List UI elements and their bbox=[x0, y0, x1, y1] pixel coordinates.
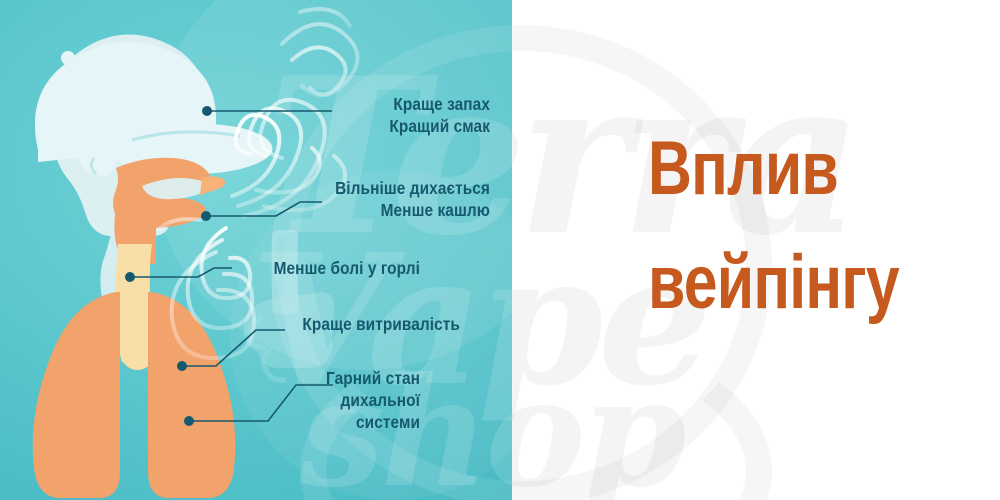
callout-breathing-line1: Вільніше дихається bbox=[219, 178, 490, 200]
connector-dot-endurance bbox=[177, 361, 187, 371]
watermark-ring-lower-right bbox=[512, 330, 772, 500]
callout-endurance-line1: Краще витривалість bbox=[222, 314, 460, 336]
connector-dot-throat bbox=[125, 272, 135, 282]
callout-respiratory-line2: дихальної bbox=[253, 390, 420, 412]
callout-smell-taste-line1: Краще запах bbox=[254, 94, 490, 116]
infographic-banner: Terra Vape shop bbox=[0, 0, 1000, 500]
callout-respiratory-line3: системи bbox=[253, 412, 420, 434]
hand-holding-vape-device bbox=[244, 230, 334, 380]
page-title-line1: Вплив bbox=[648, 132, 912, 206]
callout-endurance: Краще витривалість bbox=[190, 314, 460, 336]
illustration-panel: Terra Vape shop bbox=[0, 0, 512, 500]
trachea bbox=[115, 244, 152, 370]
connector-dot-smell-taste bbox=[202, 106, 212, 116]
callout-respiratory: Гарний стан дихальної системи bbox=[230, 368, 420, 434]
callout-respiratory-line1: Гарний стан bbox=[253, 368, 420, 390]
page-title-line2: вейпінгу bbox=[648, 246, 912, 320]
callout-throat-line1: Менше болі у горлі bbox=[182, 258, 420, 280]
watermark-shop-right: shop bbox=[512, 345, 682, 500]
callout-breathing: Вільніше дихається Менше кашлю bbox=[182, 178, 490, 222]
left-lung bbox=[33, 292, 120, 498]
connector-dot-respiratory bbox=[184, 416, 194, 426]
callout-smell-taste: Краще запах Кращий смак bbox=[222, 94, 490, 138]
callout-throat: Менше болі у горлі bbox=[150, 258, 420, 280]
callout-breathing-line2: Менше кашлю bbox=[219, 200, 490, 222]
page-title: Вплив вейпінгу bbox=[648, 132, 978, 319]
callout-smell-taste-line2: Кращий смак bbox=[254, 116, 490, 138]
